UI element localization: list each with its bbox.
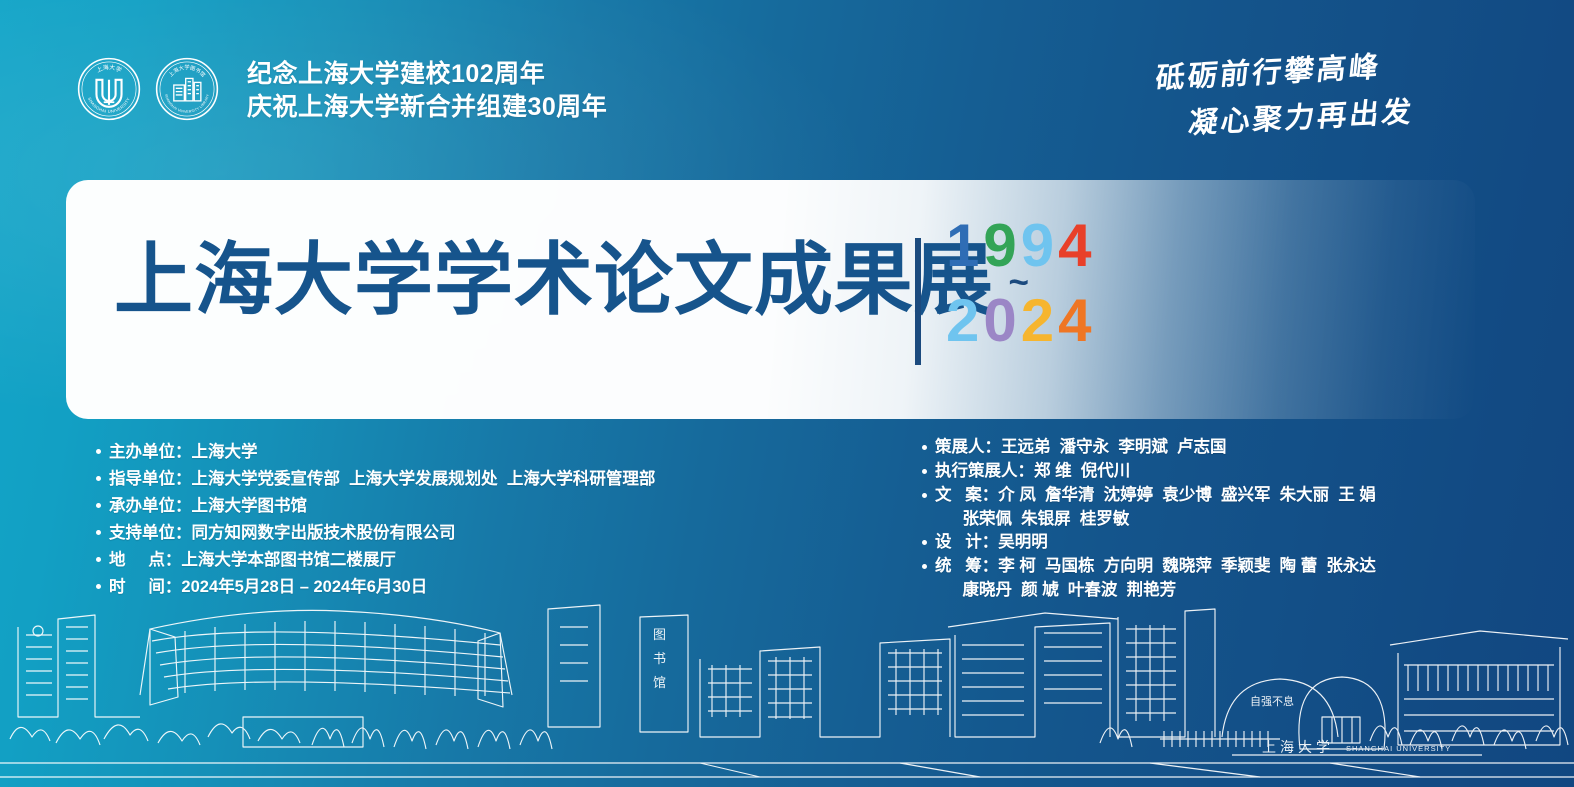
calligraphy-line-1: 砥砺前行攀高峰 xyxy=(1154,49,1383,94)
organizer-item-label: 时 间：2024年5月28日 – 2024年6月30日 xyxy=(109,575,427,599)
shanghai-university-library-seal-icon: 上海大学图书馆 SHANGHAI UNIVERSITY LIBRARY xyxy=(154,56,220,122)
page-title: 上海大学学术论文成果展 xyxy=(114,235,994,325)
organizer-item: 时 间：2024年5月28日 – 2024年6月30日 xyxy=(96,575,876,599)
bullet-dot-icon xyxy=(96,503,101,508)
bullet-dot-icon xyxy=(96,530,101,535)
organizer-item-label: 指导单位：上海大学党委宣传部 上海大学发展规划处 上海大学科研管理部 xyxy=(109,467,655,491)
calligraphy-slogan-icon: 砥砺前行攀高峰 凝心聚力再出发 xyxy=(1149,48,1469,148)
bullet-dot-icon xyxy=(96,449,101,454)
organizer-item: 指导单位：上海大学党委宣传部 上海大学发展规划处 上海大学科研管理部 xyxy=(96,467,876,491)
shanghai-university-seal-icon: 上海大学 SHANGHAI UNIVERSITY xyxy=(76,56,142,122)
organizer-item-label: 承办单位：上海大学图书馆 xyxy=(109,494,307,518)
organizer-item-label: 地 点：上海大学本部图书馆二楼展厅 xyxy=(109,548,396,572)
credit-item-label: 策展人：王远弟 潘守永 李明斌 卢志国 xyxy=(935,436,1227,459)
campus-skyline-icon: 图 书 馆 xyxy=(0,587,1574,787)
organizer-item: 承办单位：上海大学图书馆 xyxy=(96,494,876,518)
anniversary-line-2: 庆祝上海大学新合并组建30周年 xyxy=(247,91,607,124)
svg-text:自强不息: 自强不息 xyxy=(1250,694,1294,708)
campus-skyline-illustration: 图 书 馆 xyxy=(0,587,1574,787)
year-to-digit-2: 2 xyxy=(1021,287,1058,354)
year-from-digit-0: 1 xyxy=(946,212,983,279)
bullet-dot-icon xyxy=(922,493,927,498)
title-card: 上海大学学术论文成果展 1994 ~ 2024 xyxy=(66,180,1475,419)
credits-column: 策展人：王远弟 潘守永 李明斌 卢志国执行策展人：郑 维 倪代川文 案：介 凤 … xyxy=(922,436,1482,602)
year-divider xyxy=(915,238,921,365)
bullet-dot-icon xyxy=(96,557,101,562)
credit-item-label: 设 计：吴明明 xyxy=(935,531,1048,554)
year-to-digit-1: 0 xyxy=(983,287,1020,354)
credit-item: 设 计：吴明明 xyxy=(922,531,1482,554)
svg-text:上海大学图书馆: 上海大学图书馆 xyxy=(167,63,208,78)
bullet-dot-icon xyxy=(922,564,927,569)
campus-gate-cn-text: 上海大学 xyxy=(1262,739,1334,755)
svg-text:上海大学: 上海大学 xyxy=(95,63,123,74)
anniversary-headline: 纪念上海大学建校102周年 庆祝上海大学新合并组建30周年 xyxy=(247,58,607,124)
organizers-column: 主办单位：上海大学指导单位：上海大学党委宣传部 上海大学发展规划处 上海大学科研… xyxy=(96,440,876,602)
bullet-dot-icon xyxy=(922,469,927,474)
credit-item: 统 筹：李 柯 马国栋 方向明 魏晓萍 季颖斐 陶 蕾 张永达 xyxy=(922,555,1482,578)
credit-item-label: 执行策展人：郑 维 倪代川 xyxy=(935,460,1130,483)
credit-item-label: 统 筹：李 柯 马国栋 方向明 魏晓萍 季颖斐 陶 蕾 张永达 xyxy=(935,555,1376,578)
bullet-dot-icon xyxy=(96,584,101,589)
logo-group: 上海大学 SHANGHAI UNIVERSITY xyxy=(76,56,220,122)
organizer-item: 主办单位：上海大学 xyxy=(96,440,876,464)
credit-item: 策展人：王远弟 潘守永 李明斌 卢志国 xyxy=(922,436,1482,459)
bullet-dot-icon xyxy=(96,476,101,481)
anniversary-line-1: 纪念上海大学建校102周年 xyxy=(247,58,607,91)
bullet-dot-icon xyxy=(922,540,927,545)
credit-item-label: 文 案：介 凤 詹华清 沈婷婷 袁少博 盛兴军 朱大丽 王 娟 xyxy=(935,484,1376,507)
credit-item: 文 案：介 凤 詹华清 沈婷婷 袁少博 盛兴军 朱大丽 王 娟 xyxy=(922,484,1482,507)
poster-header: 上海大学 SHANGHAI UNIVERSITY xyxy=(0,0,1574,175)
organizer-item: 地 点：上海大学本部图书馆二楼展厅 xyxy=(96,548,876,572)
credit-item-continuation: 张荣佩 朱银屏 桂罗敏 xyxy=(922,508,1482,531)
svg-text:馆: 馆 xyxy=(653,675,666,690)
organizer-item-label: 主办单位：上海大学 xyxy=(109,440,258,464)
calligraphy-line-2: 凝心聚力再出发 xyxy=(1187,94,1416,139)
organizer-item: 支持单位：同方知网数字出版技术股份有限公司 xyxy=(96,521,876,545)
year-range: 1994 ~ 2024 xyxy=(946,219,1096,347)
svg-text:图: 图 xyxy=(653,627,666,642)
year-from-digit-3: 4 xyxy=(1058,212,1095,279)
credit-item: 执行策展人：郑 维 倪代川 xyxy=(922,460,1482,483)
year-to: 2024 xyxy=(946,294,1096,347)
campus-gate-en-text: SHANGHAI UNIVERSITY xyxy=(1346,744,1451,753)
year-to-digit-0: 2 xyxy=(946,287,983,354)
svg-text:书: 书 xyxy=(653,651,666,666)
calligraphy-slogan: 砥砺前行攀高峰 凝心聚力再出发 xyxy=(1149,48,1469,148)
bullet-dot-icon xyxy=(922,445,927,450)
year-to-digit-3: 4 xyxy=(1058,287,1095,354)
credit-item-continuation: 康晓丹 颜 虓 叶春波 荆艳芳 xyxy=(922,579,1482,602)
poster-canvas: 上海大学 SHANGHAI UNIVERSITY xyxy=(0,0,1574,787)
organizer-item-label: 支持单位：同方知网数字出版技术股份有限公司 xyxy=(109,521,456,545)
